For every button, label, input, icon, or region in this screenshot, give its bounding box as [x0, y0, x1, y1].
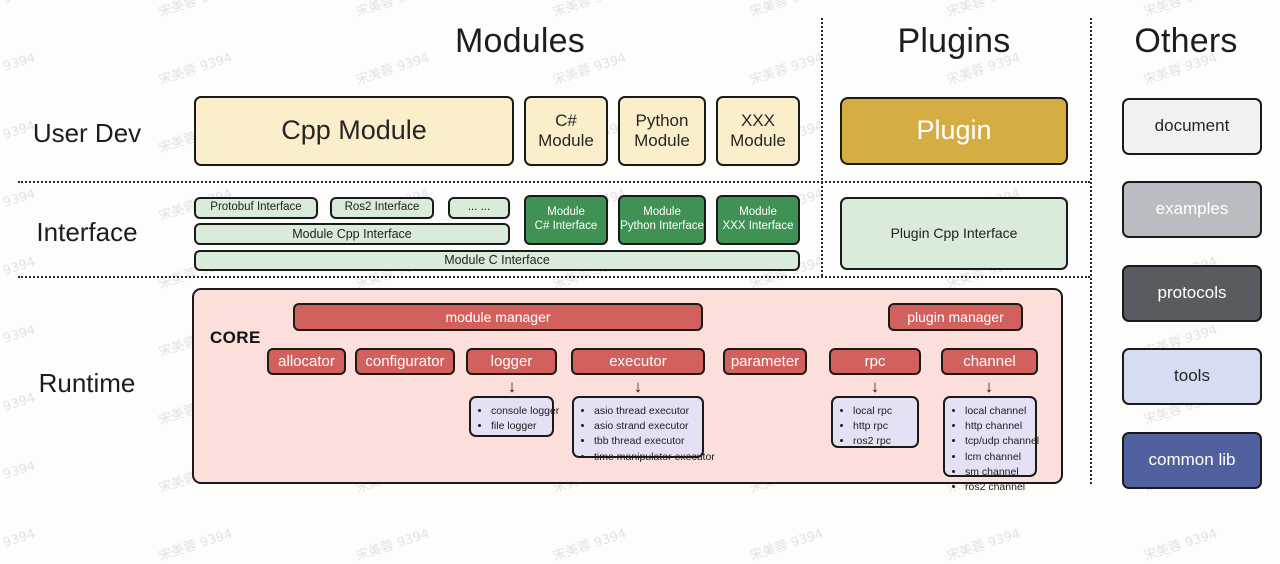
box-logger[interactable]: logger	[466, 348, 557, 375]
list-item: asio thread executor	[594, 404, 694, 419]
box-channel[interactable]: channel	[941, 348, 1038, 375]
watermark-text: 宋美蓉 9394	[747, 0, 825, 20]
row-label-runtime: Runtime	[2, 368, 172, 399]
list-item: file logger	[491, 419, 544, 434]
box-configurator[interactable]: configurator	[355, 348, 455, 375]
column-header-modules: Modules	[340, 22, 700, 61]
box-examples[interactable]: examples	[1122, 181, 1262, 238]
watermark-text: 宋美蓉 9394	[747, 47, 825, 89]
watermark-text: 宋美蓉 9394	[353, 0, 431, 20]
watermark-text: 宋美蓉 9394	[1141, 523, 1219, 564]
watermark-text: 宋美蓉 9394	[156, 47, 234, 89]
list-item: http rpc	[853, 419, 909, 434]
box-module-xxx-interface[interactable]: Module XXX Interface	[716, 195, 800, 245]
box-common-lib[interactable]: common lib	[1122, 432, 1262, 489]
list-item: console logger	[491, 404, 544, 419]
column-header-others: Others	[1092, 22, 1280, 61]
arrow-down-icon-rpc: ↓	[868, 377, 882, 397]
box-protocols[interactable]: protocols	[1122, 265, 1262, 322]
watermark-text: 宋美蓉 9394	[1141, 0, 1219, 20]
arrow-down-icon-logger: ↓	[505, 377, 519, 397]
box-allocator[interactable]: allocator	[267, 348, 346, 375]
divider-modules-plugins	[821, 18, 823, 276]
list-item: tcp/udp channel	[965, 434, 1027, 449]
box-csharp-module[interactable]: C# Module	[524, 96, 608, 166]
box-protobuf-interface[interactable]: Protobuf Interface	[194, 197, 318, 219]
column-header-plugins: Plugins	[820, 22, 1088, 61]
box-more-interface[interactable]: ... ...	[448, 197, 510, 219]
detail-list-logger: console logger file logger	[479, 404, 544, 434]
detail-rpc: local rpc http rpc ros2 rpc	[831, 396, 919, 448]
watermark-text: 宋美蓉 9394	[0, 319, 37, 361]
watermark-text: 宋美蓉 9394	[0, 0, 37, 20]
divider-interface-runtime	[18, 276, 1090, 278]
watermark-text: 宋美蓉 9394	[0, 47, 37, 89]
watermark-text: 宋美蓉 9394	[944, 523, 1022, 564]
core-title: CORE	[210, 328, 261, 348]
box-executor[interactable]: executor	[571, 348, 705, 375]
watermark-text: 宋美蓉 9394	[0, 455, 37, 497]
arrow-down-icon-executor: ↓	[631, 377, 645, 397]
detail-list-channel: local channel http channel tcp/udp chann…	[953, 404, 1027, 495]
watermark-text: 宋美蓉 9394	[550, 0, 628, 20]
list-item: tbb thread executor	[594, 434, 694, 449]
list-item: time manipulator executor	[594, 450, 694, 465]
watermark-text: 宋美蓉 9394	[156, 0, 234, 20]
detail-list-executor: asio thread executor asio strand executo…	[582, 404, 694, 465]
list-item: http channel	[965, 419, 1027, 434]
detail-list-rpc: local rpc http rpc ros2 rpc	[841, 404, 909, 450]
architecture-diagram: 宋美蓉 9394宋美蓉 9394宋美蓉 9394宋美蓉 9394宋美蓉 9394…	[0, 0, 1280, 519]
box-plugin-manager[interactable]: plugin manager	[888, 303, 1023, 331]
list-item: lcm channel	[965, 450, 1027, 465]
box-tools[interactable]: tools	[1122, 348, 1262, 405]
box-module-python-interface[interactable]: Module Python Interface	[618, 195, 706, 245]
watermark-text: 宋美蓉 9394	[353, 523, 431, 564]
list-item: ros2 channel	[965, 480, 1027, 495]
box-plugin-cpp-interface[interactable]: Plugin Cpp Interface	[840, 197, 1068, 270]
box-cpp-module[interactable]: Cpp Module	[194, 96, 514, 166]
divider-user-dev-interface	[18, 181, 1090, 183]
box-python-module[interactable]: Python Module	[618, 96, 706, 166]
watermark-text: 宋美蓉 9394	[747, 523, 825, 564]
detail-channel: local channel http channel tcp/udp chann…	[943, 396, 1037, 477]
box-module-manager[interactable]: module manager	[293, 303, 703, 331]
divider-plugins-others	[1090, 18, 1092, 484]
box-parameter[interactable]: parameter	[723, 348, 807, 375]
watermark-text: 宋美蓉 9394	[944, 0, 1022, 20]
box-xxx-module[interactable]: XXX Module	[716, 96, 800, 166]
watermark-text: 宋美蓉 9394	[550, 523, 628, 564]
box-module-c-interface[interactable]: Module C Interface	[194, 250, 800, 271]
list-item: local rpc	[853, 404, 909, 419]
box-plugin[interactable]: Plugin	[840, 97, 1068, 165]
watermark-text: 宋美蓉 9394	[156, 523, 234, 564]
watermark-text: 宋美蓉 9394	[0, 251, 37, 293]
detail-logger: console logger file logger	[469, 396, 554, 437]
arrow-down-icon-channel: ↓	[982, 377, 996, 397]
box-rpc[interactable]: rpc	[829, 348, 921, 375]
list-item: asio strand executor	[594, 419, 694, 434]
list-item: sm channel	[965, 465, 1027, 480]
row-label-user-dev: User Dev	[2, 118, 172, 149]
box-ros2-interface[interactable]: Ros2 Interface	[330, 197, 434, 219]
detail-executor: asio thread executor asio strand executo…	[572, 396, 704, 458]
box-document[interactable]: document	[1122, 98, 1262, 155]
row-label-interface: Interface	[2, 217, 172, 248]
box-module-csharp-interface[interactable]: Module C# Interface	[524, 195, 608, 245]
list-item: local channel	[965, 404, 1027, 419]
box-module-cpp-interface[interactable]: Module Cpp Interface	[194, 223, 510, 245]
list-item: ros2 rpc	[853, 434, 909, 449]
watermark-text: 宋美蓉 9394	[0, 523, 37, 564]
